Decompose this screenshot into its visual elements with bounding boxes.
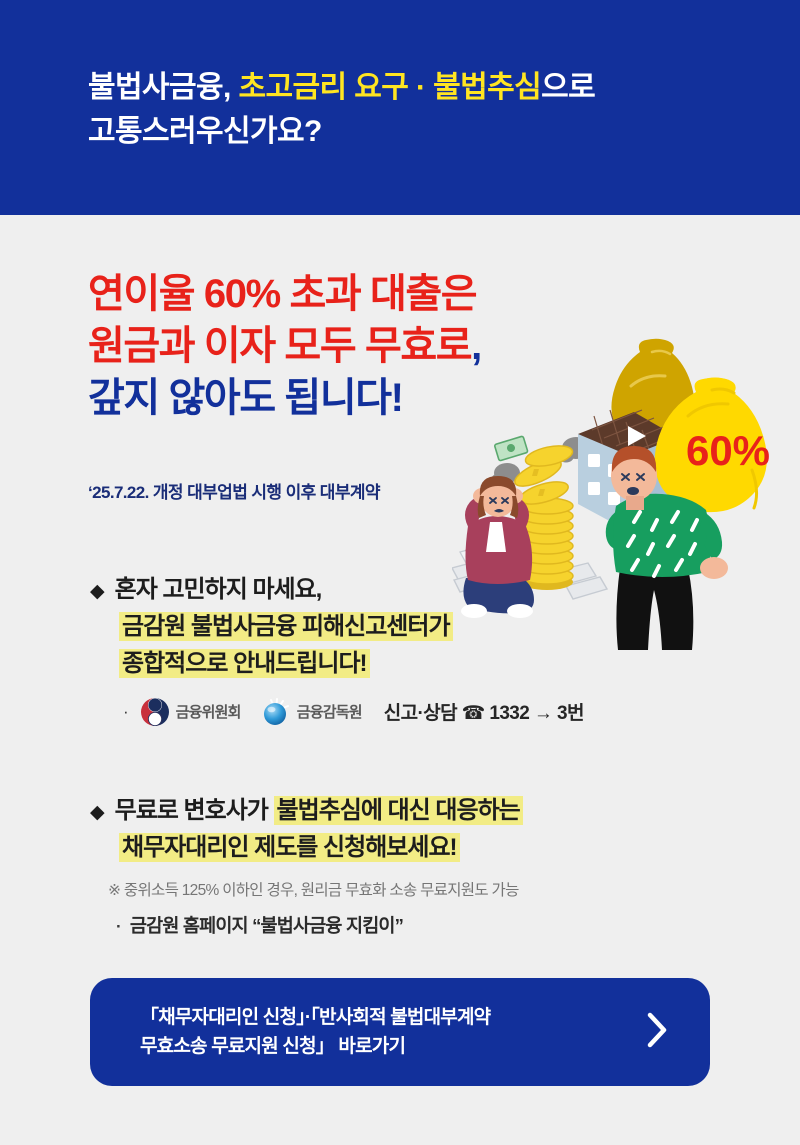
- smoke-icon: [491, 437, 590, 487]
- cta-line-2: 무효소송 무료지원 신청」 바로가기: [140, 1036, 405, 1057]
- poster-root: 불법사금융, 초고금리 요구 · 불법추심으로 고통스러우신가요? 연이율 60…: [0, 0, 800, 1145]
- money-bag-back-icon: [611, 339, 694, 448]
- section-two-line-2: 채무자대리인 제도를 신청해보세요!: [119, 830, 523, 867]
- header-line-1: 불법사금융, 초고금리 요구 · 불법추심으로: [88, 66, 595, 110]
- section-one-line-2: 금감원 불법사금융 피해신고센터가: [119, 609, 584, 646]
- section-two-highlight-1: 불법추심에 대신 대응하는: [274, 796, 523, 825]
- paper-red-stamp-icon: [460, 545, 492, 563]
- house-icon: [578, 410, 686, 532]
- headline-line2-comma: ,: [471, 324, 481, 368]
- section-two-note: ※ 중위소득 125% 이하인 경우, 원리금 무효화 소송 무료지원도 가능: [108, 878, 523, 900]
- fss-sphere-icon: [261, 697, 291, 727]
- section-debtor-agent: ◆ 무료로 변호사가 불법추심에 대신 대응하는 채무자대리인 제도를 신청해보…: [90, 793, 523, 938]
- header-line1-suffix: 으로: [541, 71, 595, 104]
- debtor-person-figure: [606, 446, 728, 650]
- diamond-bullet-icon: ◆: [90, 582, 105, 601]
- agency-contact-row: · 금융위원회: [123, 697, 584, 727]
- fsc-taegeuk-icon: [140, 697, 170, 727]
- section-one-text-1: 혼자 고민하지 마세요,: [115, 572, 322, 609]
- header-banner: 불법사금융, 초고금리 요구 · 불법추심으로 고통스러우신가요?: [0, 0, 800, 215]
- dot-bullet-icon-2: ·: [116, 917, 121, 936]
- headline-subtitle: ‘25.7.22. 개정 대부업법 시행 이후 대부계약: [88, 478, 380, 503]
- section-two-plain-1: 무료로 변호사가: [115, 797, 274, 824]
- section-report-center: ◆ 혼자 고민하지 마세요, 금감원 불법사금융 피해신고센터가 종합적으로 안…: [90, 572, 584, 727]
- section-one-line-3: 종합적으로 안내드립니다!: [119, 646, 584, 683]
- section-one-highlight-2: 종합적으로 안내드립니다!: [119, 649, 370, 678]
- section-two-line-1: ◆ 무료로 변호사가 불법추심에 대신 대응하는: [90, 793, 523, 830]
- section-two-highlight-2: 채무자대리인 제도를 신청해보세요!: [119, 833, 460, 862]
- report-phone-text[interactable]: 신고·상담 ☎ 1332 → 3번: [384, 698, 584, 725]
- diamond-bullet-icon-2: ◆: [90, 803, 105, 822]
- section-two-sub-bullet: ·금감원 홈페이지 “불법사금융 지킴이”: [116, 912, 523, 938]
- cta-label: 「채무자대리인 신청」·「반사회적 불법대부계약 무효소송 무료지원 신청」 바…: [140, 1003, 490, 1062]
- headline-line2-red: 원금과 이자 모두 무효로: [88, 324, 471, 368]
- header-line1-highlight: 초고금리 요구 · 불법추심: [238, 71, 541, 104]
- money-bag-front-icon: 60%: [655, 378, 770, 513]
- money-bag-percent-label: 60%: [686, 427, 770, 474]
- cta-apply-button[interactable]: 「채무자대리인 신청」·「반사회적 불법대부계약 무효소송 무료지원 신청」 바…: [90, 978, 710, 1086]
- main-headline: 연이율 60% 초과 대출은 원금과 이자 모두 무효로, 갚지 않아도 됩니다…: [88, 268, 481, 424]
- header-line1-prefix: 불법사금융,: [88, 71, 238, 104]
- dot-bullet-icon: ·: [123, 703, 129, 720]
- fsc-label: 금융위원회: [176, 701, 241, 722]
- headline-line-3: 갚지 않아도 됩니다!: [88, 372, 481, 424]
- chevron-right-icon: [644, 1009, 670, 1056]
- headline-line-2: 원금과 이자 모두 무효로,: [88, 320, 481, 372]
- headline-line-1: 연이율 60% 초과 대출은: [88, 268, 481, 320]
- header-headline: 불법사금융, 초고금리 요구 · 불법추심으로 고통스러우신가요?: [88, 66, 595, 154]
- section-one-line-1: ◆ 혼자 고민하지 마세요,: [90, 572, 584, 609]
- section-two-text-1: 무료로 변호사가 불법추심에 대신 대응하는: [115, 793, 523, 830]
- section-two-sub-bullet-text: 금감원 홈페이지 “불법사금융 지킴이”: [130, 915, 403, 936]
- coin-stack-icon: [512, 442, 575, 590]
- banknote-icon: [494, 436, 528, 461]
- section-one-highlight-1: 금감원 불법사금융 피해신고센터가: [119, 612, 453, 641]
- header-line-2: 고통스러우신가요?: [88, 110, 595, 154]
- fss-label: 금융감독원: [297, 701, 362, 722]
- cta-line-1: 「채무자대리인 신청」·「반사회적 불법대부계약: [140, 1007, 490, 1028]
